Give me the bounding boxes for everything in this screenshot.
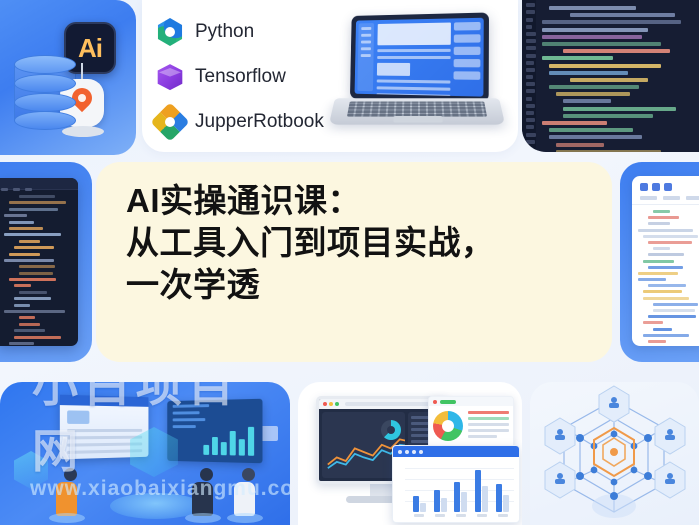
page-title: AI实操通识课： 从工具入门到项目实战， 一次学透 bbox=[126, 180, 600, 306]
tool-label: Tensorflow bbox=[195, 66, 286, 88]
terminal-output bbox=[0, 190, 78, 346]
donut-chart-icon bbox=[381, 420, 401, 440]
poster-canvas: Ai Python Tensorflow JupperRotbook bbox=[0, 0, 699, 525]
python-logo-icon bbox=[156, 18, 184, 46]
notebook-content bbox=[632, 205, 699, 346]
terminal-window-icon bbox=[0, 178, 78, 346]
tool-item-python[interactable]: Python bbox=[156, 12, 346, 52]
tool-label: JupperRotbook bbox=[195, 111, 324, 133]
title-line-1: AI实操通识课： bbox=[126, 180, 600, 222]
tensorflow-logo-icon bbox=[156, 63, 184, 91]
network-illustration-panel bbox=[530, 382, 699, 525]
bar-chart-card-icon bbox=[392, 445, 520, 523]
database-ai-card: Ai bbox=[0, 0, 136, 155]
chart-screen-illustration bbox=[167, 399, 262, 464]
person-figure bbox=[56, 468, 85, 523]
ai-badge-label: Ai bbox=[78, 33, 102, 64]
notebook-tabs[interactable] bbox=[632, 196, 699, 205]
notebook-toolbar bbox=[632, 176, 699, 196]
hex-glow-decoration-icon bbox=[14, 451, 48, 489]
title-line-3: 一次学透 bbox=[126, 264, 600, 306]
tool-item-jupyter[interactable]: JupperRotbook bbox=[156, 102, 346, 142]
code-gutter bbox=[522, 0, 536, 152]
code-editor-panel bbox=[522, 0, 699, 152]
dashboard-illustration-panel bbox=[298, 382, 522, 525]
team-illustration-panel: 小白项目网 www.xiaobaixiangmu.com bbox=[0, 382, 290, 525]
title-line-2: 从工具入门到项目实战， bbox=[126, 222, 600, 264]
donut-chart-card-icon bbox=[428, 396, 514, 450]
person-figure bbox=[192, 468, 221, 523]
jupyter-logo-icon bbox=[150, 102, 190, 142]
tool-item-tensorflow[interactable]: Tensorflow bbox=[156, 57, 346, 97]
browser-toolbar bbox=[319, 399, 445, 409]
tool-logo-list: Python Tensorflow JupperRotbook bbox=[156, 12, 346, 147]
person-figure bbox=[234, 468, 263, 523]
notebook-panel bbox=[620, 162, 699, 362]
tool-label: Python bbox=[195, 21, 254, 43]
tools-logos-card: Python Tensorflow JupperRotbook bbox=[142, 0, 518, 152]
hexagon-network-illustration-icon bbox=[530, 382, 699, 525]
address-bar[interactable] bbox=[345, 402, 437, 406]
bar-chart-illustration bbox=[203, 425, 254, 456]
notebook-document-icon bbox=[632, 176, 699, 346]
terminal-panel bbox=[0, 162, 92, 362]
monitor-stand bbox=[370, 484, 394, 496]
title-panel: AI实操通识课： 从工具入门到项目实战， 一次学透 bbox=[96, 162, 612, 362]
terminal-titlebar bbox=[0, 178, 78, 190]
laptop-illustration-icon bbox=[330, 12, 504, 138]
code-lines bbox=[542, 6, 695, 152]
